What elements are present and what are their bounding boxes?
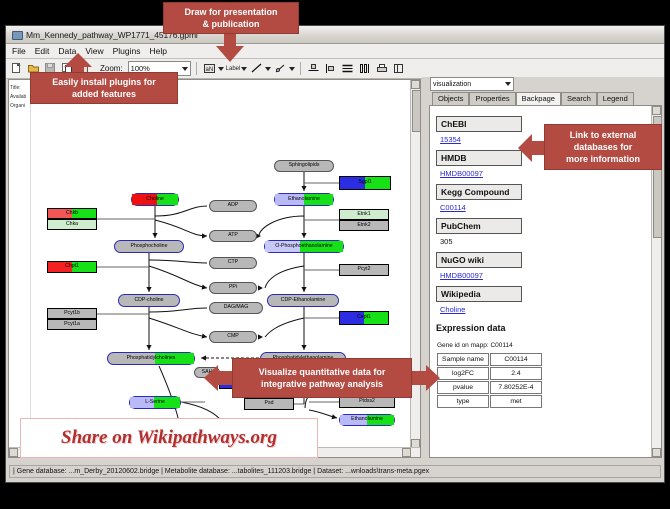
pathway-node-ethanolamine-top[interactable]: Ethanolamine [274, 193, 334, 206]
pathvisio-app-icon [11, 29, 22, 40]
pathway-node-label: L-Serine [145, 400, 165, 405]
pathway-node-label: Ethanolamine [288, 197, 320, 202]
pathway-node-label: Phosphocholine [131, 244, 168, 249]
chevron-down-icon [218, 67, 224, 71]
table-cell-value: 2.4 [490, 367, 542, 380]
toolbar-separator [196, 62, 197, 75]
new-document-icon[interactable] [9, 61, 24, 76]
pathway-edge [155, 220, 207, 236]
table-cell-value: 7.80252E-4 [490, 381, 542, 394]
callout-line-2: & publication [203, 18, 260, 30]
pathway-node-dagmag[interactable]: DAG/MAG [209, 302, 263, 314]
callout-arrow-left-links [518, 133, 546, 163]
pathway-node-cept1[interactable]: Cept1 [339, 311, 389, 325]
pathway-node-adp[interactable]: ADP [209, 200, 257, 212]
pathway-node-choline-top[interactable]: Choline [131, 193, 179, 206]
callout-line-1: Draw for presentation [184, 6, 277, 18]
pathway-node-pcyt1a[interactable]: Pcyt1a [47, 319, 97, 330]
chevron-down-icon [289, 67, 295, 71]
pathway-node-label: O-Phosphoethanolamine [275, 244, 332, 249]
pathway-edge [149, 308, 207, 312]
pathway-node-label: ATP [228, 233, 238, 238]
pathway-node-pcyt2[interactable]: Pcyt2 [339, 264, 389, 276]
pathway-edge [265, 318, 304, 337]
callout-line-2: added features [72, 88, 136, 100]
pathway-node-label: Pcyt1b [64, 311, 80, 316]
pathway-node-label: CDP-choline [134, 298, 163, 303]
menu-plugins[interactable]: Plugins [113, 46, 141, 56]
pathway-edge [265, 266, 304, 288]
pathway-node-label: Cept1 [357, 315, 371, 320]
table-row: log2FC2.4 [437, 367, 542, 380]
scroll-up-button[interactable] [652, 106, 661, 115]
edge-arrowhead [202, 285, 207, 290]
callout-arrow-right-visualize [410, 364, 440, 392]
tab-legend[interactable]: Legend [597, 92, 634, 105]
tab-properties[interactable]: Properties [469, 92, 515, 105]
interaction-tool-button[interactable] [273, 61, 295, 76]
database-header-nugo-wiki: NuGO wiki [436, 252, 522, 268]
table-cell-value: C00114 [490, 353, 542, 366]
pathway-node-label: CDP-Ethanolamine [281, 298, 325, 303]
pathway-canvas[interactable]: Title: Availab Organi SphingolipidsEthan… [8, 79, 421, 458]
pathway-node-label: Etnk2 [357, 223, 370, 228]
menu-help[interactable]: Help [150, 46, 167, 56]
label-tool-button[interactable]: Label [226, 66, 248, 72]
line-tool-button[interactable] [249, 61, 271, 76]
callout-arrow-down-1 [214, 32, 246, 64]
table-row: pvalue7.80252E-4 [437, 381, 542, 394]
properties-icon[interactable] [391, 61, 406, 76]
pathway-edge [149, 318, 207, 337]
edge-arrowhead [301, 233, 306, 238]
visualization-value: visualization [433, 81, 471, 88]
pathway-node-label: ADP [228, 203, 239, 208]
edge-arrowhead [146, 345, 151, 350]
pathway-node-label: Sphingolipids [289, 163, 320, 168]
callout-external-links: Link to external databases for more info… [544, 124, 662, 170]
menu-file[interactable]: File [12, 46, 26, 56]
label-icon: Label [226, 66, 241, 72]
visualization-select[interactable]: visualization [430, 77, 514, 91]
database-link-hmdb[interactable]: HMDB00097 [440, 169, 661, 178]
table-cell-key: type [437, 395, 489, 408]
pathway-node-sgpl1[interactable]: Sgpl1 [339, 176, 391, 190]
pathway-node-label: Pcyt1a [64, 322, 80, 327]
scroll-down-button[interactable] [652, 448, 661, 457]
database-link-kegg-compound[interactable]: C00114 [440, 203, 661, 212]
pathway-edge [149, 260, 207, 263]
tab-search[interactable]: Search [561, 92, 597, 105]
edge-arrowhead [202, 233, 207, 238]
pathway-node-chkb[interactable]: Chkb [47, 208, 97, 219]
stack-vertical-icon[interactable] [340, 61, 355, 76]
callout-install-plugins: Easily install plugins for added feature… [30, 72, 178, 104]
edge-arrowhead [201, 355, 206, 360]
pathway-node-label: Pcyt2 [358, 267, 371, 272]
edge-arrowhead [152, 233, 157, 238]
common-height-icon[interactable] [357, 61, 372, 76]
expression-data-heading: Expression data [436, 323, 661, 333]
database-value-pubchem: 305 [440, 237, 661, 246]
pathway-node-cdp-choline[interactable]: CDP-choline [118, 294, 180, 307]
gene-id-line: Gene id on mapp: C00114 [437, 342, 661, 349]
window-titlebar: Mm_Kennedy_pathway_WP1771_45176.gpml [6, 26, 664, 44]
svg-text:aN: aN [205, 67, 213, 73]
pathway-node-psd[interactable]: Psd [244, 398, 294, 410]
edge-arrowhead [258, 334, 263, 339]
callout-draw-for-publication: Draw for presentation & publication [163, 2, 299, 34]
pathway-node-label: CTP [228, 260, 238, 265]
tab-objects[interactable]: Objects [432, 92, 469, 105]
database-link-nugo-wiki[interactable]: HMDB00097 [440, 271, 661, 280]
pathway-node-ophosphoethanolamine[interactable]: O-Phosphoethanolamine [264, 240, 344, 253]
menu-edit[interactable]: Edit [35, 46, 50, 56]
pathway-node-phosphocholine[interactable]: Phosphocholine [114, 240, 184, 253]
pathway-node-label: Etnk1 [357, 212, 370, 217]
line-icon [249, 61, 264, 76]
callout-line-3: more information [566, 153, 640, 165]
table-cell-key: log2FC [437, 367, 489, 380]
edge-arrowhead [202, 334, 207, 339]
database-link-wikipedia[interactable]: Choline [440, 305, 661, 314]
pathway-node-etnk1[interactable]: Etnk1 [339, 209, 389, 220]
visualization-row: visualization [426, 77, 664, 91]
table-row: typemet [437, 395, 542, 408]
pathway-node-label: Sgpl1 [358, 180, 371, 185]
pathway-node-etnk2[interactable]: Etnk2 [339, 220, 389, 231]
interaction-icon [273, 61, 288, 76]
print-icon[interactable] [374, 61, 389, 76]
table-cell-key: pvalue [437, 381, 489, 394]
pathway-node-ethanolamine-right[interactable]: Ethanolamine [339, 414, 395, 426]
statusbar: | Gene database: ...m_Derby_20120602.bri… [6, 461, 664, 482]
chevron-down-icon [505, 82, 511, 86]
pathway-node-chka[interactable]: Chka [47, 219, 97, 230]
table-row: Sample nameC00114 [437, 353, 542, 366]
pathway-node-chpt1[interactable]: Chpt1 [47, 261, 97, 273]
menubar: File Edit Data View Plugins Help [6, 44, 664, 59]
edge-arrowhead [301, 345, 306, 350]
pathway-node-label: Psd [265, 401, 274, 406]
pathway-node-label: Ethanolamine [351, 417, 383, 422]
pathway-node-l-serine-left[interactable]: L-Serine [129, 396, 181, 409]
pathway-node-cdp-ethanolamine[interactable]: CDP-Ethanolamine [267, 294, 339, 307]
pathway-node-ppi[interactable]: PPi [209, 282, 257, 294]
callout-visualize-data: Visualize quantitative data for integrat… [232, 358, 412, 398]
edge-arrowhead [332, 414, 338, 419]
callout-line-1: Link to external [570, 129, 637, 141]
share-banner-text: Share on Wikipathways.org [61, 427, 277, 449]
callout-line-2: integrative pathway analysis [261, 378, 383, 390]
edge-arrowhead [301, 287, 306, 292]
pathway-node-label: Chka [66, 222, 78, 227]
database-header-pubchem: PubChem [436, 218, 522, 234]
pathway-edge [155, 206, 207, 216]
pathway-node-label: Chpt1 [65, 264, 79, 269]
pathway-node-phosphatidylcholines[interactable]: Phosphatidylcholines [107, 352, 195, 365]
status-text: | Gene database: ...m_Derby_20120602.bri… [9, 465, 661, 478]
sidebar-tabs: Objects Properties Backpage Search Legen… [426, 91, 664, 105]
toolbar-separator [300, 62, 301, 75]
align-top-icon[interactable] [306, 61, 321, 76]
pathway-node-ctp[interactable]: CTP [209, 257, 257, 269]
pathway-node-pcyt1b[interactable]: Pcyt1b [47, 308, 97, 319]
table-cell-key: Sample name [437, 353, 489, 366]
pathway-node-label: PPi [229, 285, 237, 290]
database-header-kegg-compound: Kegg Compound [436, 184, 522, 200]
align-left-icon[interactable] [323, 61, 338, 76]
database-header-hmdb: HMDB [436, 150, 522, 166]
callout-line-1: Easily install plugins for [52, 76, 156, 88]
edge-arrowhead [301, 186, 306, 191]
edge-arrowhead [146, 287, 151, 292]
screenshot-root: Mm_Kennedy_pathway_WP1771_45176.gpml Fil… [0, 0, 670, 509]
expression-data-table: Sample nameC00114log2FC2.4pvalue7.80252E… [436, 352, 543, 409]
pathway-node-sphingolipids[interactable]: Sphingolipids [274, 160, 334, 172]
edge-arrowhead [258, 285, 263, 290]
pathway-node-label: CMP [227, 334, 239, 339]
pathway-edge [149, 266, 207, 288]
pathway-node-label: Ptdss2 [359, 399, 375, 404]
callout-arrow-left-visualize [204, 364, 234, 392]
pathway-edge [259, 216, 304, 236]
pathway-node-label: Phosphatidylcholines [127, 356, 176, 361]
database-header-wikipedia: Wikipedia [436, 286, 522, 302]
tab-backpage[interactable]: Backpage [516, 92, 561, 106]
pathway-node-atp[interactable]: ATP [209, 230, 257, 242]
table-cell-value: met [490, 395, 542, 408]
database-header-chebi: ChEBI [436, 116, 522, 132]
pathway-node-label: Choline [146, 197, 164, 202]
chevron-down-icon [241, 67, 247, 71]
chevron-down-icon [182, 67, 188, 71]
pathway-node-label: Chkb [66, 211, 78, 216]
callout-line-1: Visualize quantitative data for [259, 366, 386, 378]
share-banner: Share on Wikipathways.org [20, 418, 318, 458]
pathway-node-label: DAG/MAG [224, 305, 249, 310]
callout-line-2: databases for [574, 141, 633, 153]
pathway-node-cmp[interactable]: CMP [209, 331, 257, 343]
chevron-down-icon [265, 67, 271, 71]
